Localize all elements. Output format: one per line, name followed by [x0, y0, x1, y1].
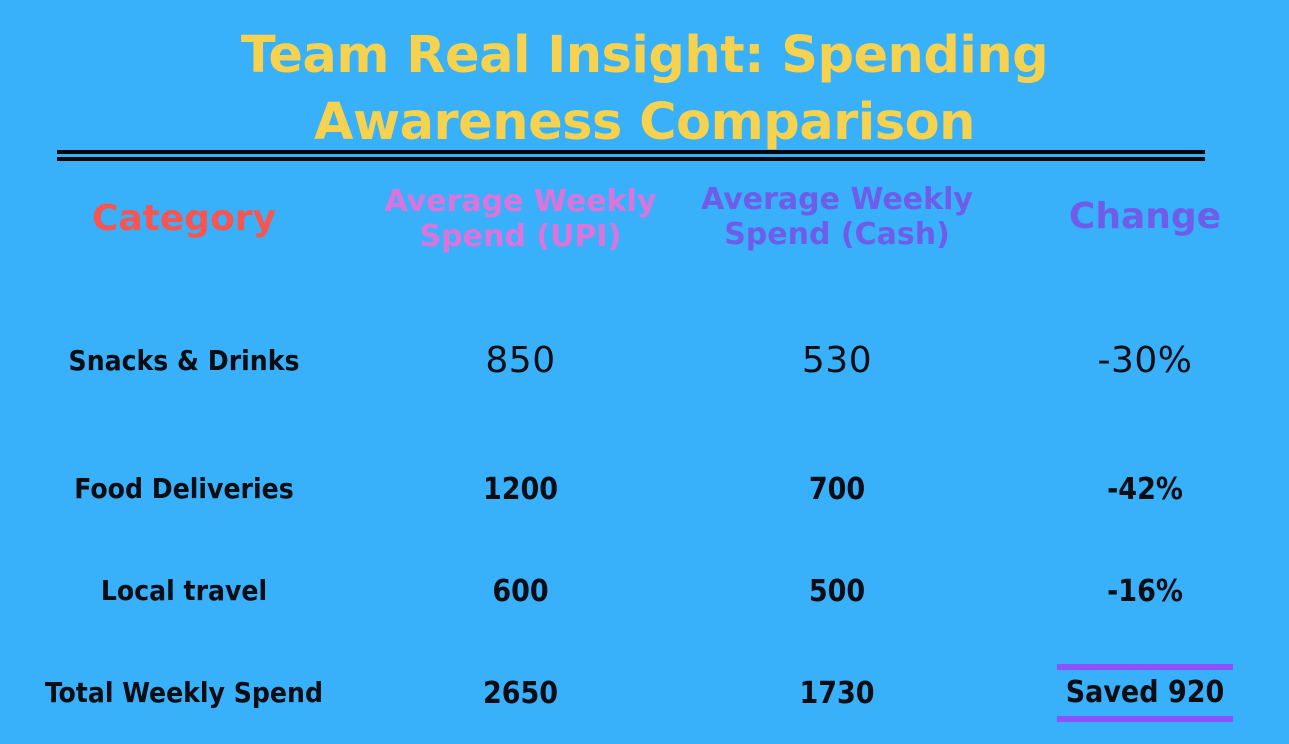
- column-header-category: Category: [0, 176, 368, 240]
- table-row: Snacks & Drinks 850 530 -30%: [0, 310, 1289, 412]
- row-value-food-cash: 700: [673, 473, 1001, 506]
- slide-canvas: Team Real Insight: Spending Awareness Co…: [0, 0, 1289, 725]
- row-value-total-upi: 2650: [368, 677, 673, 710]
- row-value-travel-upi: 600: [368, 575, 673, 608]
- column-header-cash: Average Weekly Spend (Cash): [673, 176, 1001, 253]
- row-label-local-travel: Local travel: [0, 576, 368, 607]
- row-value-travel-cash: 500: [673, 575, 1001, 608]
- row-label-snacks-drinks: Snacks & Drinks: [0, 346, 368, 377]
- row-value-snacks-upi: 850: [368, 341, 673, 381]
- column-header-change: Change: [1001, 176, 1289, 238]
- page-title: Team Real Insight: Spending Awareness Co…: [0, 22, 1289, 157]
- savings-highlight-badge: Saved 920: [1057, 664, 1233, 722]
- row-label-food-deliveries: Food Deliveries: [0, 474, 368, 505]
- row-value-snacks-change: -30%: [1001, 341, 1289, 381]
- comparison-table: Category Average Weekly Spend (UPI) Aver…: [0, 176, 1289, 744]
- table-header-row: Category Average Weekly Spend (UPI) Aver…: [0, 176, 1289, 264]
- row-value-food-change: -42%: [1001, 473, 1289, 506]
- divider-line-top: [57, 150, 1205, 154]
- row-value-total-cash: 1730: [673, 677, 1001, 710]
- table-row: Local travel 600 500 -16%: [0, 540, 1289, 642]
- table-row: Food Deliveries 1200 700 -42%: [0, 438, 1289, 540]
- table-row-total: Total Weekly Spend 2650 1730 Saved 920: [0, 642, 1289, 744]
- total-change-cell: Saved 920: [1001, 664, 1289, 722]
- row-label-total-weekly-spend: Total Weekly Spend: [0, 678, 368, 709]
- column-header-upi: Average Weekly Spend (UPI): [368, 176, 673, 255]
- title-container: Team Real Insight: Spending Awareness Co…: [0, 22, 1289, 157]
- row-value-snacks-cash: 530: [673, 341, 1001, 381]
- row-value-food-upi: 1200: [368, 473, 673, 506]
- row-value-travel-change: -16%: [1001, 575, 1289, 608]
- title-divider: [57, 150, 1205, 161]
- divider-line-bottom: [57, 157, 1205, 161]
